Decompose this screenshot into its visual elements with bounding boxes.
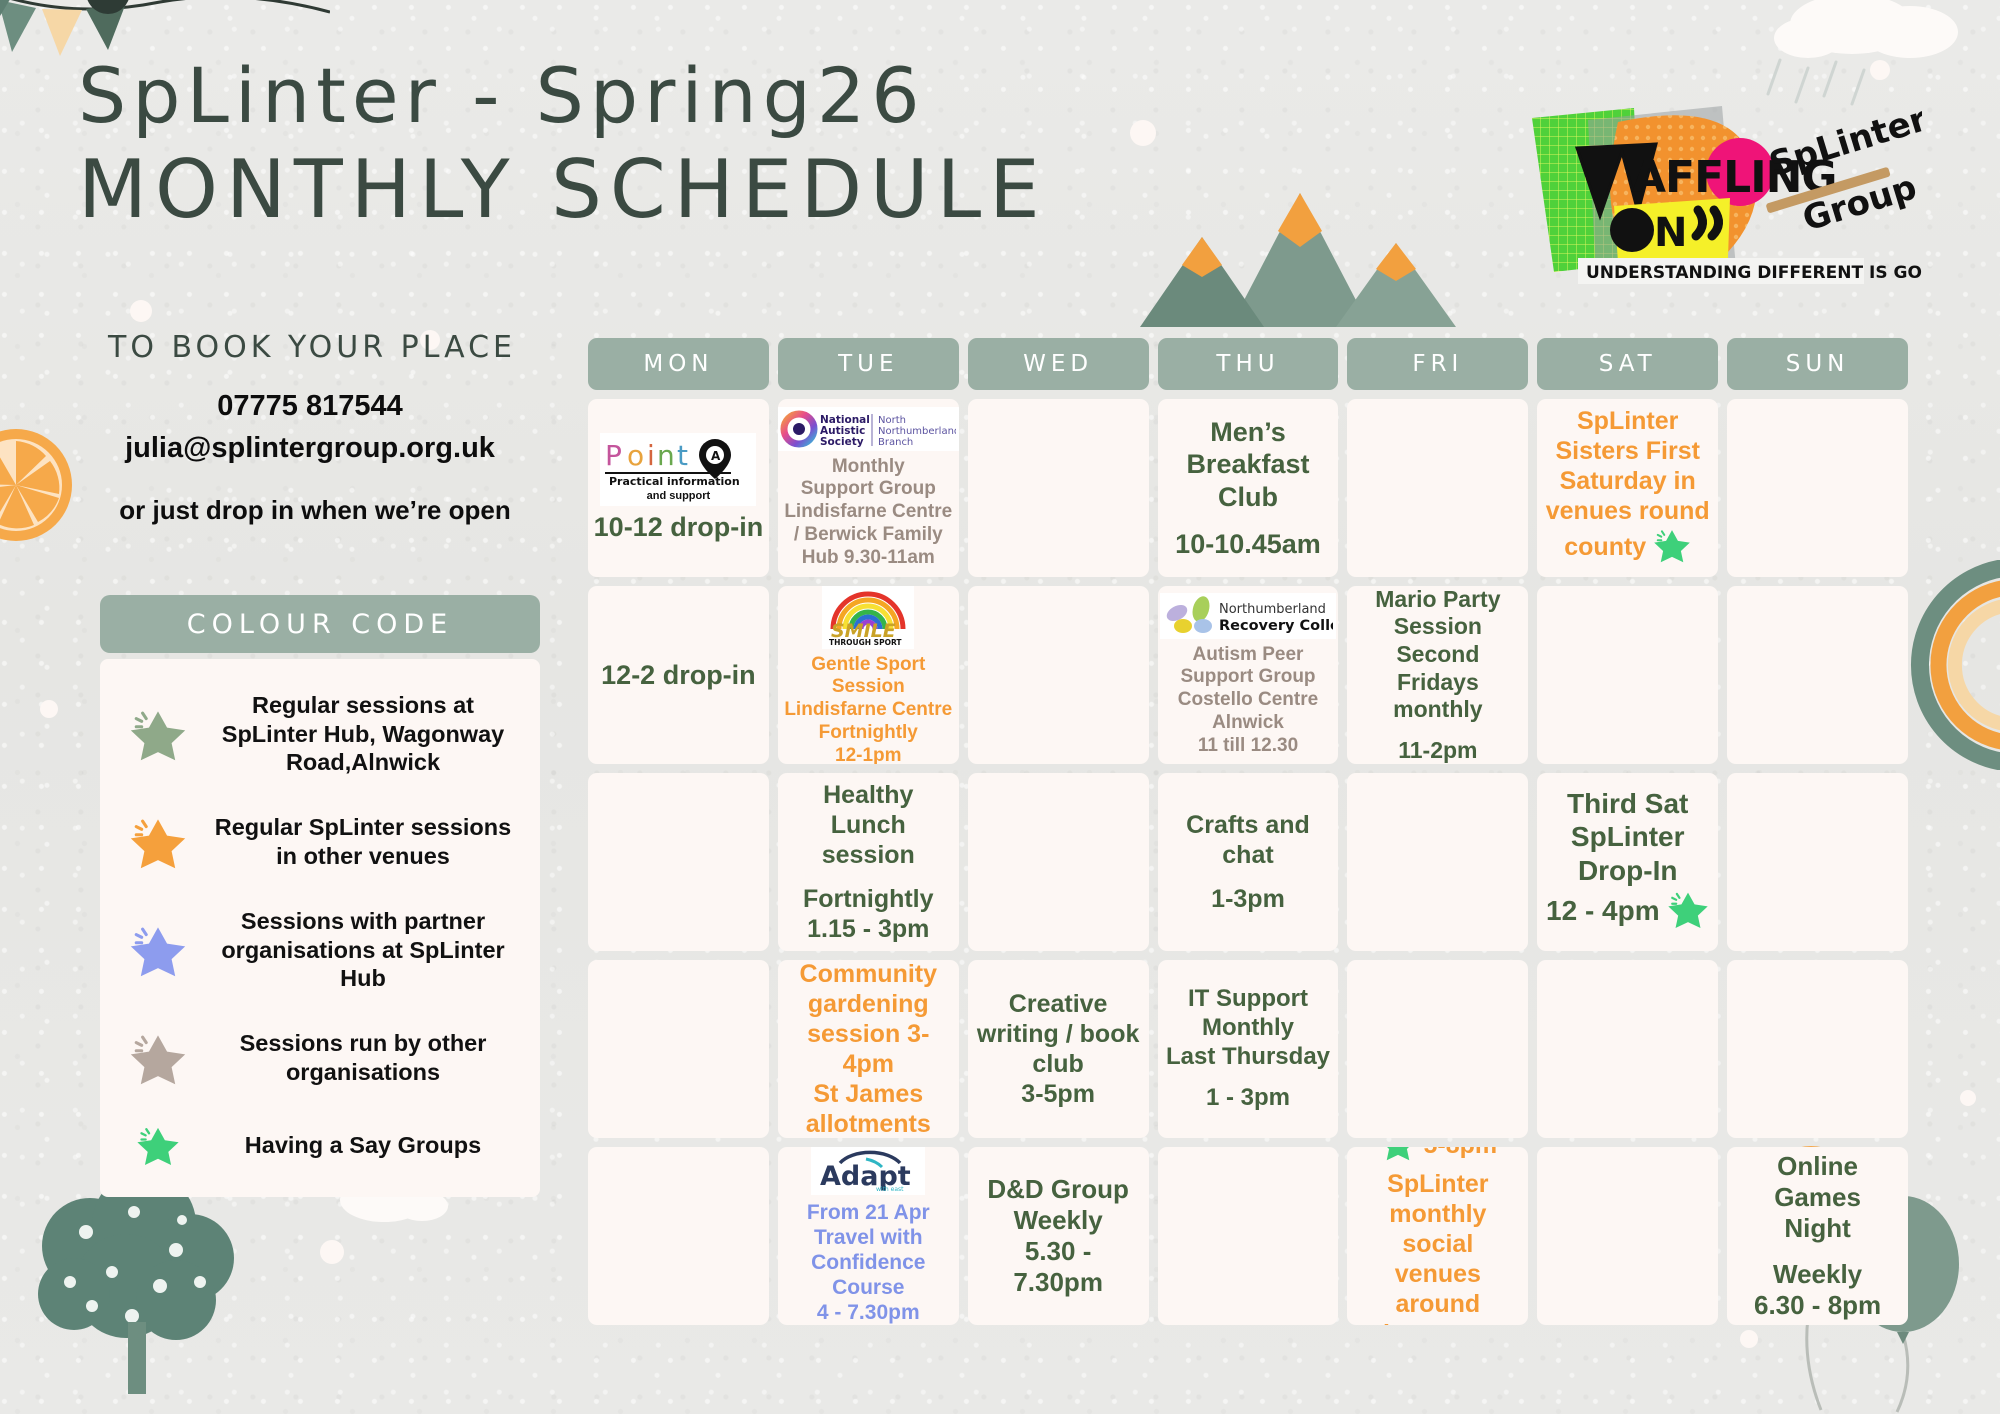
svg-text:Branch: Branch	[878, 437, 913, 448]
calendar-cell-line: 5.30 -	[987, 1236, 1129, 1267]
calendar-cell-sun-3[interactable]	[1727, 773, 1908, 951]
calendar-cell-text: 12-2 drop-in	[601, 659, 756, 691]
calendar-cell-line: SpLinter	[1546, 406, 1710, 436]
calendar-cell-line: 12-2 drop-in	[601, 659, 756, 691]
adapt-logo: Adaptwith east	[811, 1147, 925, 1195]
monthly-schedule-calendar: MONTUEWEDTHUFRISATSUNPointAPractical inf…	[588, 338, 1908, 1325]
svg-text:Society: Society	[820, 436, 864, 448]
legend-star-icon	[122, 1123, 194, 1167]
calendar-cell-mon-4[interactable]	[588, 960, 769, 1138]
calendar-cell-line: Travel with	[783, 1225, 954, 1250]
calendar-cell-text: Crafts and chat1-3pm	[1163, 810, 1334, 914]
svg-text:Practical information: Practical information	[609, 475, 740, 488]
legend-star-icon	[122, 705, 194, 763]
calendar-cell-line: Alnwick	[1178, 712, 1318, 735]
calendar-cell-fri-2[interactable]: Mario PartySessionSecond Fridaysmonthly1…	[1347, 586, 1528, 764]
calendar-cell-thu-2[interactable]: NorthumberlandRecovery CollegeAutism Pee…	[1158, 586, 1339, 764]
calendar-cell-line: county	[1546, 526, 1710, 571]
calendar-cell-tue-2[interactable]: SMILETHROUGH SPORTGentle Sport SessionLi…	[778, 586, 959, 764]
calendar-cell-line: Mario Party	[1352, 586, 1523, 613]
svg-text:o: o	[627, 439, 644, 472]
calendar-cell-line: Fortnightly	[783, 884, 954, 914]
calendar-cell-mon-5[interactable]	[588, 1147, 769, 1325]
calendar-cell-line: Support Group	[1178, 666, 1318, 689]
calendar-cell-line: Drop-In	[1546, 854, 1709, 888]
calendar-cell-line: / Berwick Family	[784, 524, 952, 547]
calendar-cell-line: Last Thursday	[1166, 1043, 1330, 1072]
calendar-cell-line: Monthly	[1166, 1014, 1330, 1043]
calendar-cell-line: 4 - 7.30pm	[783, 1300, 954, 1325]
svg-text:THROUGH SPORT: THROUGH SPORT	[829, 638, 902, 647]
calendar-cell-line: 11-2pm	[1352, 737, 1523, 764]
contact-block: 07775 817544 julia@splintergroup.org.uk	[100, 385, 520, 469]
calendar-cell-text: Third SatSpLinterDrop-In12 - 4pm	[1546, 787, 1709, 937]
calendar-cell-line: Club	[1175, 481, 1321, 513]
legend-star-icon	[122, 1029, 194, 1087]
calendar-cell-tue-3[interactable]: Healthy LunchsessionFortnightly1.15 - 3p…	[778, 773, 959, 951]
calendar-cell-sun-1[interactable]	[1727, 399, 1908, 577]
star-icon	[1653, 526, 1691, 564]
calendar-cell-line: session 3-4pm	[783, 1019, 954, 1079]
calendar-cell-sun-5[interactable]: Online GamesNightWeekly6.30 - 8pm	[1727, 1147, 1908, 1325]
calendar-cell-text: Men’sBreakfastClub10-10.45am	[1175, 416, 1321, 561]
calendar-cell-wed-5[interactable]: D&D GroupWeekly5.30 -7.30pm	[968, 1147, 1149, 1325]
svg-text:Recovery College: Recovery College	[1219, 618, 1333, 634]
calendar-cell-line: Men’s	[1175, 416, 1321, 448]
calendar-cell-line: Autism Peer	[1178, 644, 1318, 667]
calendar-cell-text: 10-12 drop-in	[594, 511, 764, 543]
calendar-cell-line: writing / book	[977, 1019, 1140, 1049]
svg-text:i: i	[647, 439, 655, 472]
calendar-cell-line: 11 till 12.30	[1178, 735, 1318, 758]
legend-item-5: Having a Say Groups	[122, 1123, 518, 1167]
legend-item-1: Regular sessions at SpLinter Hub, Wagonw…	[122, 691, 518, 777]
calendar-cell-tue-4[interactable]: Communitygardeningsession 3-4pmSt Jamesa…	[778, 960, 959, 1138]
calendar-cell-mon-2[interactable]: 12-2 drop-in	[588, 586, 769, 764]
svg-text:t: t	[677, 439, 688, 472]
calendar-cell-text: MonthlySupport GroupLindisfarne Centre/ …	[784, 456, 952, 570]
calendar-cell-line: 5-8pm	[1352, 1147, 1523, 1169]
booking-label: TO BOOK YOUR PLACE	[108, 330, 516, 365]
star-icon	[129, 705, 187, 763]
calendar-cell-line: club	[977, 1049, 1140, 1079]
phone-number: 07775 817544	[100, 385, 520, 427]
day-header-thu: THU	[1158, 338, 1339, 390]
national-autistic-society-logo: NationalAutisticSocietyNorthNorthumberla…	[778, 407, 959, 451]
smile-through-sport-logo: SMILETHROUGH SPORT	[822, 586, 914, 649]
calendar-cell-line: venues around	[1352, 1259, 1523, 1319]
calendar-cell-line: Weekly	[987, 1205, 1129, 1236]
dot-decoration	[320, 1240, 344, 1264]
legend-items: Regular sessions at SpLinter Hub, Wagonw…	[100, 659, 540, 1197]
calendar-cell-line: Weekly	[1732, 1259, 1903, 1290]
calendar-cell-line: Night	[1732, 1213, 1903, 1244]
calendar-cell-wed-2[interactable]	[968, 586, 1149, 764]
calendar-cell-text: SpLinterSisters FirstSaturday invenues r…	[1546, 406, 1710, 571]
dot-decoration	[1740, 1330, 1758, 1348]
calendar-cell-wed-1[interactable]	[968, 399, 1149, 577]
day-header-sun: SUN	[1727, 338, 1908, 390]
calendar-cell-line: gardening	[783, 989, 954, 1019]
calendar-cell-mon-1[interactable]: PointAPractical informationand support10…	[588, 399, 769, 577]
calendar-cell-line: Fortnightly	[783, 722, 954, 745]
legend-item-label: Regular sessions at SpLinter Hub, Wagonw…	[208, 691, 518, 777]
calendar-cell-tue-5[interactable]: Adaptwith eastFrom 21 AprTravel withConf…	[778, 1147, 959, 1325]
calendar-cell-line: 12-1pm	[783, 745, 954, 764]
star-icon	[129, 1029, 187, 1087]
point-logo: PointAPractical informationand support	[600, 433, 756, 506]
calendar-cell-fri-5[interactable]: 5-8pmSpLintermonthly socialvenues around…	[1347, 1147, 1528, 1325]
legend-item-2: Regular SpLinter sessions in other venue…	[122, 813, 518, 871]
green-star-icon	[1379, 1147, 1417, 1169]
calendar-cell-line: 1 - 3pm	[1166, 1084, 1330, 1113]
svg-text:A: A	[711, 449, 721, 463]
calendar-cell-text: Online GamesNightWeekly6.30 - 8pm	[1732, 1151, 1903, 1321]
calendar-cell-line: the county	[1352, 1319, 1523, 1326]
calendar-cell-mon-3[interactable]	[588, 773, 769, 951]
star-icon	[1379, 1147, 1417, 1162]
calendar-cell-text: 5-8pmSpLintermonthly socialvenues around…	[1352, 1147, 1523, 1325]
calendar-cell-sat-2[interactable]	[1537, 586, 1718, 764]
calendar-cell-line: Hub 9.30-11am	[784, 547, 952, 570]
day-header-tue: TUE	[778, 338, 959, 390]
dot-decoration	[40, 700, 58, 718]
calendar-cell-line: Online Games	[1732, 1151, 1903, 1213]
legend-star-icon	[122, 813, 194, 871]
legend-item-label: Having a Say Groups	[208, 1131, 518, 1160]
legend-star-icon	[122, 921, 194, 979]
day-header-mon: MON	[588, 338, 769, 390]
calendar-cell-line: IT Support	[1166, 985, 1330, 1014]
day-header-fri: FRI	[1347, 338, 1528, 390]
calendar-cell-thu-3[interactable]: Crafts and chat1-3pm	[1158, 773, 1339, 951]
page-title: SpLinter - Spring26 MONTHLY SCHEDULE	[78, 58, 1048, 230]
calendar-cell-tue-1[interactable]: NationalAutisticSocietyNorthNorthumberla…	[778, 399, 959, 577]
calendar-cell-text: Healthy LunchsessionFortnightly1.15 - 3p…	[783, 780, 954, 944]
svg-text:Northumberland: Northumberland	[1219, 602, 1326, 617]
dot-decoration	[1130, 120, 1156, 146]
legend-title: COLOUR CODE	[187, 609, 454, 640]
calendar-cell-line: Third Sat	[1546, 787, 1709, 821]
svg-text:Northumberland: Northumberland	[878, 426, 956, 437]
calendar-cell-fri-4[interactable]	[1347, 960, 1528, 1138]
legend-item-label: Sessions run by other organisations	[208, 1029, 518, 1086]
calendar-cell-text: Gentle Sport SessionLindisfarne CentreFo…	[783, 654, 954, 764]
calendar-cell-wed-4[interactable]: Creativewriting / bookclub3-5pm	[968, 960, 1149, 1138]
calendar-cell-line: venues round	[1546, 496, 1710, 526]
star-icon	[129, 813, 187, 871]
star-icon	[129, 921, 187, 979]
calendar-cell-text: Communitygardeningsession 3-4pmSt Jamesa…	[783, 960, 954, 1138]
calendar-cell-line: Community	[783, 960, 954, 989]
green-star-icon	[1653, 526, 1691, 571]
calendar-cell-line: Sisters First	[1546, 436, 1710, 466]
svg-text:n: n	[657, 439, 675, 472]
calendar-cell-thu-5[interactable]	[1158, 1147, 1339, 1325]
calendar-cell-sat-4[interactable]	[1537, 960, 1718, 1138]
calendar-cell-sat-1[interactable]: SpLinterSisters FirstSaturday invenues r…	[1537, 399, 1718, 577]
calendar-cell-line: 3-5pm	[977, 1079, 1140, 1109]
calendar-cell-line: St James	[783, 1079, 954, 1109]
calendar-cell-line: Second Fridays	[1352, 641, 1523, 696]
calendar-cell-fri-3[interactable]	[1347, 773, 1528, 951]
calendar-cell-line: Monthly	[784, 456, 952, 479]
calendar-cell-thu-4[interactable]: IT SupportMonthlyLast Thursday1 - 3pm	[1158, 960, 1339, 1138]
calendar-cell-sun-2[interactable]	[1727, 586, 1908, 764]
calendar-cell-sat-5[interactable]	[1537, 1147, 1718, 1325]
calendar-cell-line: Costello Centre	[1178, 689, 1318, 712]
colour-code-legend: COLOUR CODE Regular sessions at SpLinter…	[100, 595, 540, 1197]
calendar-cell-fri-1[interactable]	[1347, 399, 1528, 577]
email-address: julia@splintergroup.org.uk	[100, 427, 520, 469]
calendar-cell-line: Saturday in	[1546, 466, 1710, 496]
dropin-note: or just drop in when we’re open	[95, 495, 535, 526]
calendar-cell-line: allotments	[783, 1109, 954, 1138]
legend-header: COLOUR CODE	[100, 595, 540, 653]
dot-decoration	[1870, 60, 1890, 80]
calendar-cell-line: monthly	[1352, 696, 1523, 724]
calendar-cell-line: 6.30 - 8pm	[1732, 1290, 1903, 1321]
calendar-cell-line: Lindisfarne Centre	[784, 501, 952, 524]
calendar-cell-line: Confidence Course	[783, 1250, 954, 1300]
legend-item-label: Sessions with partner organisations at S…	[208, 907, 518, 993]
calendar-cell-text: From 21 AprTravel withConfidence Course4…	[783, 1200, 954, 1325]
calendar-cell-line: Lindisfarne Centre	[783, 699, 954, 722]
dot-decoration	[1960, 1090, 1976, 1106]
legend-item-3: Sessions with partner organisations at S…	[122, 907, 518, 993]
calendar-cell-wed-3[interactable]	[968, 773, 1149, 951]
calendar-cell-line: SpLinter	[1546, 820, 1709, 854]
title-line-1: SpLinter - Spring26	[78, 58, 1048, 134]
title-line-2: MONTHLY SCHEDULE	[78, 150, 1048, 230]
legend-item-label: Regular SpLinter sessions in other venue…	[208, 813, 518, 870]
calendar-cell-line: Crafts and chat	[1163, 810, 1334, 870]
calendar-cell-line: From 21 Apr	[783, 1200, 954, 1225]
day-header-sat: SAT	[1537, 338, 1718, 390]
calendar-cell-text: IT SupportMonthlyLast Thursday1 - 3pm	[1166, 985, 1330, 1113]
calendar-cell-line: SpLinter	[1352, 1169, 1523, 1199]
calendar-cell-line: D&D Group	[987, 1174, 1129, 1205]
green-star-icon	[1667, 888, 1709, 938]
svg-text:P: P	[605, 439, 622, 472]
svg-text:North: North	[878, 415, 906, 426]
calendar-cell-line: 12 - 4pm	[1546, 888, 1709, 938]
calendar-cell-line: 7.30pm	[987, 1267, 1129, 1298]
northumberland-recovery-college-logo: NorthumberlandRecovery College	[1160, 593, 1336, 639]
star-icon	[1667, 888, 1709, 930]
star-icon	[136, 1123, 180, 1167]
calendar-cell-line: Creative	[977, 989, 1140, 1019]
legend-item-4: Sessions run by other organisations	[122, 1029, 518, 1087]
calendar-cell-text: Creativewriting / bookclub3-5pm	[977, 989, 1140, 1109]
calendar-cell-sun-4[interactable]	[1727, 960, 1908, 1138]
calendar-cell-line: Session	[1352, 613, 1523, 641]
calendar-cell-sat-3[interactable]: Third SatSpLinterDrop-In12 - 4pm	[1537, 773, 1718, 951]
dot-decoration	[130, 300, 152, 322]
calendar-cell-line: Breakfast	[1175, 448, 1321, 480]
calendar-cell-line: session	[783, 840, 954, 870]
calendar-cell-text: Autism PeerSupport GroupCostello CentreA…	[1178, 644, 1318, 758]
calendar-cell-line: 10-10.45am	[1175, 528, 1321, 560]
calendar-cell-thu-1[interactable]: Men’sBreakfastClub10-10.45am	[1158, 399, 1339, 577]
calendar-cell-line: 10-12 drop-in	[594, 511, 764, 543]
calendar-cell-line: Healthy Lunch	[783, 780, 954, 840]
calendar-cell-line: 1-3pm	[1163, 884, 1334, 914]
day-header-wed: WED	[968, 338, 1149, 390]
calendar-cell-line: Support Group	[784, 478, 952, 501]
calendar-cell-line: Gentle Sport Session	[783, 654, 954, 700]
calendar-cell-line: 1.15 - 3pm	[783, 914, 954, 944]
calendar-cell-text: D&D GroupWeekly5.30 -7.30pm	[987, 1174, 1129, 1299]
svg-text:with east: with east	[876, 1186, 904, 1193]
calendar-cell-line: monthly social	[1352, 1199, 1523, 1259]
calendar-cell-text: Mario PartySessionSecond Fridaysmonthly1…	[1352, 586, 1523, 764]
